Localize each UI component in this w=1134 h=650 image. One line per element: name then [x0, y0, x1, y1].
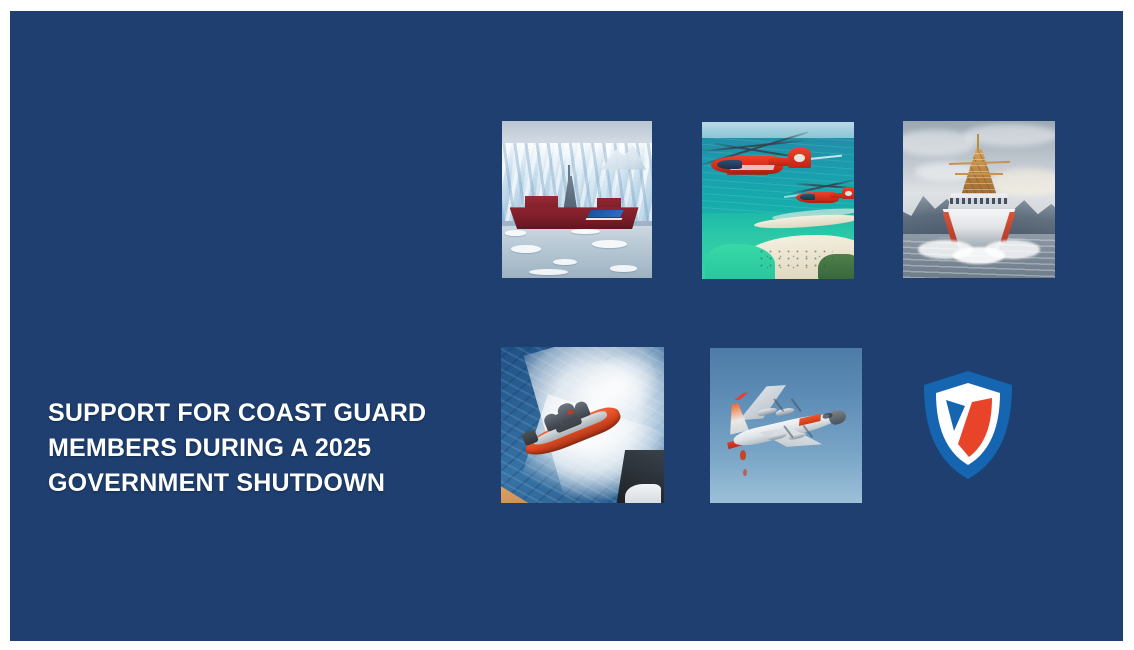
cutter-mountains-photo — [903, 121, 1055, 278]
ice-floe — [529, 269, 568, 275]
helicopter-beach-photo — [702, 122, 854, 279]
page-title-line-3: GOVERNMENT SHUTDOWN — [48, 466, 488, 501]
ship-racing-stripe — [587, 210, 623, 217]
helicopter-window — [800, 194, 815, 200]
icebreaker-glacier-image — [502, 121, 652, 278]
shield-logo — [920, 369, 1016, 481]
ship-yardarm — [955, 173, 1004, 175]
ship-bridge-windows — [950, 198, 1008, 204]
shield-icon — [920, 369, 1016, 481]
cutter-hull-white-section — [625, 484, 661, 503]
helicopter-tail-fin — [842, 187, 854, 199]
ship-superstructure — [597, 198, 621, 209]
slide-canvas: SUPPORT FOR COAST GUARD MEMBERS DURING A… — [0, 0, 1134, 650]
ice-floe — [592, 240, 627, 248]
c130-aircraft-image — [710, 348, 862, 503]
cutter-mountains-image — [903, 121, 1055, 278]
helicopter-foreground — [711, 144, 808, 191]
icebreaker-glacier-photo — [502, 121, 652, 278]
ice-floe — [571, 229, 600, 234]
page-title: SUPPORT FOR COAST GUARD MEMBERS DURING A… — [48, 396, 488, 501]
helicopter-beach-image — [702, 122, 854, 279]
rhib-boat-image — [501, 347, 664, 503]
ice-floe — [511, 245, 541, 253]
helicopter-tail-fin — [788, 148, 811, 168]
beach-crowd — [757, 248, 833, 270]
ice-floe — [505, 230, 526, 235]
helicopter-skid — [727, 173, 768, 175]
helicopter-window — [717, 160, 742, 169]
c130-aircraft-photo — [710, 348, 862, 503]
presentation-slide: SUPPORT FOR COAST GUARD MEMBERS DURING A… — [10, 11, 1123, 641]
ice-floe — [610, 265, 637, 271]
ship-superstructure — [525, 196, 558, 209]
page-title-line-2: MEMBERS DURING A 2025 — [48, 431, 488, 466]
rhib-boat-photo — [501, 347, 664, 503]
bow-wake — [953, 247, 1005, 264]
page-title-line-1: SUPPORT FOR COAST GUARD — [48, 396, 488, 431]
aircraft-engine — [775, 407, 795, 417]
